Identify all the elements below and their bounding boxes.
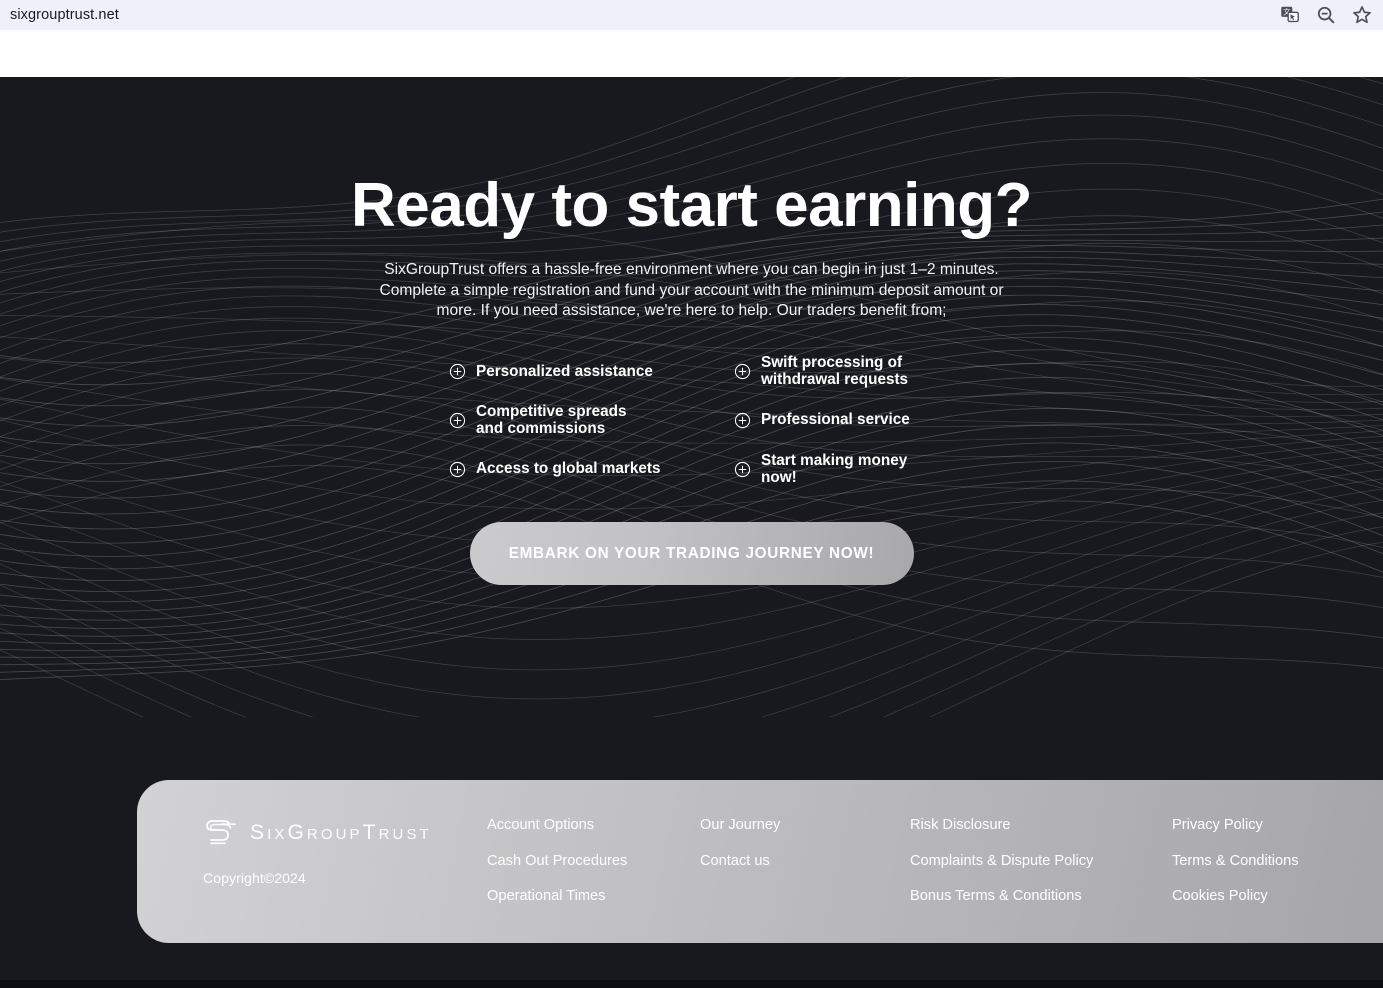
footer-link-terms-conditions[interactable]: Terms & Conditions [1172, 854, 1372, 869]
browser-toolbar-icons: 文 [1279, 0, 1379, 30]
feature-item-swift-processing: Swift processing of withdrawal requests [734, 354, 934, 389]
footer-column-2: Our Journey Contact us [700, 818, 910, 943]
plus-circle-icon [449, 363, 466, 380]
feature-label: Swift processing of withdrawal requests [761, 354, 908, 389]
hero-section: Ready to start earning? SixGroupTrust of… [0, 77, 1383, 777]
feature-label: Start making money now! [761, 452, 934, 487]
plus-circle-icon [734, 412, 751, 429]
plus-circle-icon [449, 412, 466, 429]
footer-link-operational-times[interactable]: Operational Times [487, 889, 700, 904]
plus-circle-icon [734, 461, 751, 478]
footer-link-cash-out-procedures[interactable]: Cash Out Procedures [487, 854, 700, 869]
footer-link-risk-disclosure[interactable]: Risk Disclosure [910, 818, 1172, 833]
cta-embark-button[interactable]: EMBARK ON YOUR TRADING JOURNEY NOW! [470, 522, 914, 585]
site-footer: SixGroupTrust Copyright©2024 Account Opt… [137, 780, 1383, 943]
footer-link-bonus-terms-conditions[interactable]: Bonus Terms & Conditions [910, 889, 1172, 904]
page-title: Ready to start earning? [351, 173, 1032, 238]
page-bottom-edge [0, 980, 1383, 988]
footer-link-account-options[interactable]: Account Options [487, 818, 700, 833]
feature-label: Professional service [761, 411, 910, 428]
footer-link-complaints-dispute-policy[interactable]: Complaints & Dispute Policy [910, 854, 1172, 869]
brand-row: SixGroupTrust [203, 818, 487, 848]
hero-description: SixGroupTrust offers a hassle-free envir… [362, 260, 1022, 322]
feature-label: Competitive spreads and commissions [476, 403, 626, 438]
page-top-whitespace [0, 30, 1383, 77]
footer-link-privacy-policy[interactable]: Privacy Policy [1172, 818, 1372, 833]
footer-link-contact-us[interactable]: Contact us [700, 854, 910, 869]
feature-item-personalized-assistance: Personalized assistance [449, 363, 689, 380]
s-monogram-logo-icon [203, 818, 237, 848]
footer-link-our-journey[interactable]: Our Journey [700, 818, 910, 833]
footer-column-1: Account Options Cash Out Procedures Oper… [487, 818, 700, 943]
zoom-out-icon[interactable] [1315, 4, 1337, 26]
footer-column-3: Risk Disclosure Complaints & Dispute Pol… [910, 818, 1172, 943]
feature-item-start-making-money: Start making money now! [734, 452, 934, 487]
plus-circle-icon [734, 363, 751, 380]
feature-item-competitive-spreads: Competitive spreads and commissions [449, 403, 689, 438]
plus-circle-icon [449, 461, 466, 478]
address-bar-url[interactable]: sixgrouptrust.net [10, 0, 119, 30]
translate-icon[interactable]: 文 [1279, 4, 1301, 26]
copyright-text: Copyright©2024 [203, 870, 487, 886]
browser-toolbar: sixgrouptrust.net 文 [0, 0, 1383, 30]
footer-brand: SixGroupTrust Copyright©2024 [137, 818, 487, 943]
feature-label: Access to global markets [476, 460, 661, 477]
page-content: Ready to start earning? SixGroupTrust of… [0, 77, 1383, 980]
bookmark-star-icon[interactable] [1351, 4, 1373, 26]
footer-link-cookies-policy[interactable]: Cookies Policy [1172, 889, 1372, 904]
feature-item-professional-service: Professional service [734, 411, 934, 428]
footer-column-4: Privacy Policy Terms & Conditions Cookie… [1172, 818, 1372, 943]
feature-item-global-markets: Access to global markets [449, 460, 689, 477]
brand-name: SixGroupTrust [250, 821, 432, 845]
feature-list: Personalized assistance Swift processing… [449, 354, 934, 487]
feature-label: Personalized assistance [476, 363, 653, 380]
